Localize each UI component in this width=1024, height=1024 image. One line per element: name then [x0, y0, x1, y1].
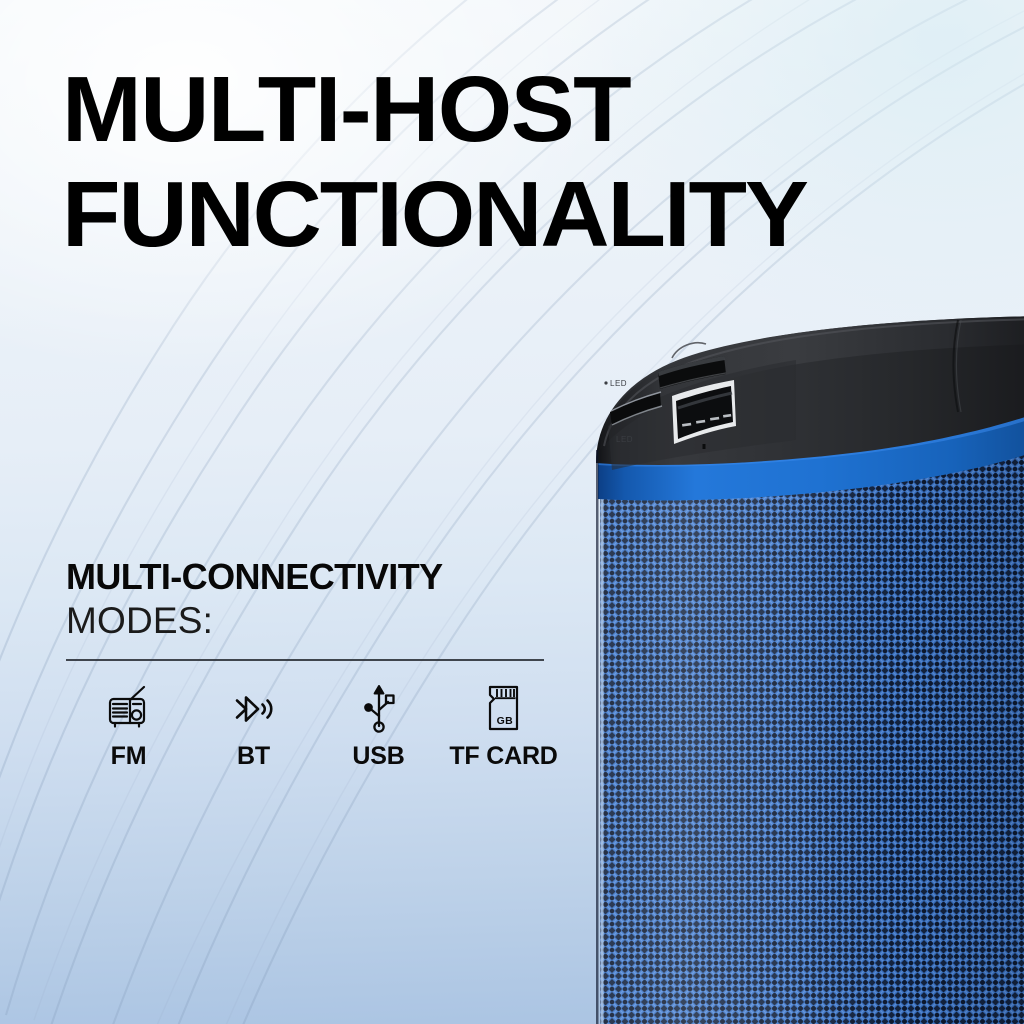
- headline-line-1: MULTI-HOST: [62, 64, 989, 155]
- bluetooth-icon: [233, 681, 275, 733]
- product-feature-banner: TF LED LED: [0, 0, 1024, 1024]
- headline-line-2: FUNCTIONALITY: [62, 169, 989, 260]
- port-label-led-bottom: LED: [616, 435, 633, 444]
- tf-card-icon: GB: [484, 681, 524, 733]
- tf-card-gb-label: GB: [496, 715, 512, 727]
- usb-icon: [359, 681, 399, 733]
- fm-radio-icon: [106, 681, 152, 733]
- mode-label-usb: USB: [352, 742, 404, 771]
- mode-label-fm: FM: [111, 742, 147, 771]
- mode-label-bt: BT: [237, 742, 270, 771]
- mode-usb: USB: [316, 681, 441, 771]
- mode-label-tf-card: TF CARD: [449, 742, 557, 771]
- section-divider: [66, 659, 544, 661]
- port-label-led-top: LED: [610, 379, 627, 388]
- product-image-speaker: TF LED LED: [560, 300, 1024, 1024]
- mode-bt: BT: [191, 681, 316, 771]
- mode-tf-card: GB TF CARD: [441, 681, 566, 771]
- subheading-strong: MULTI-CONNECTIVITY: [66, 558, 566, 596]
- connectivity-section: MULTI-CONNECTIVITY MODES:: [66, 558, 566, 771]
- headline: MULTI-HOST FUNCTIONALITY: [62, 64, 962, 260]
- subheading-light: MODES:: [66, 600, 566, 641]
- connectivity-modes-row: FM BT: [66, 681, 566, 771]
- mode-fm: FM: [66, 681, 191, 771]
